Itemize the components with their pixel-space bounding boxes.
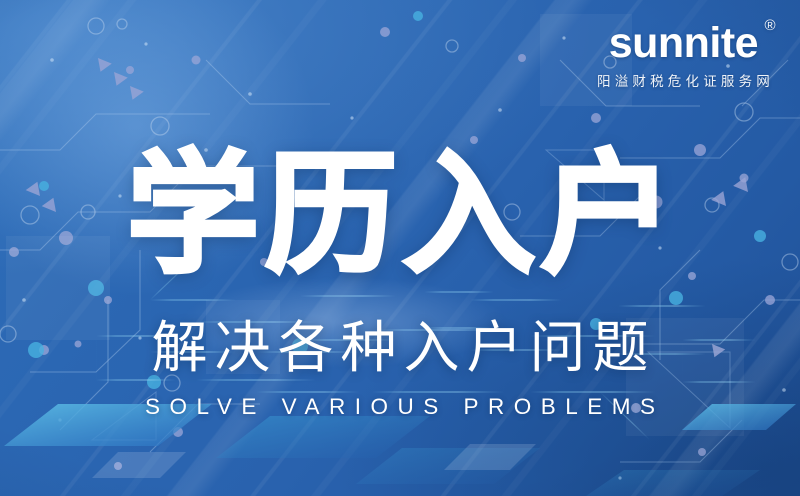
banner-subtitle-english: SOLVE VARIOUS PROBLEMS — [0, 393, 800, 421]
banner-subtitle-chinese: 解决各种入户问题 — [0, 316, 800, 382]
promotional-banner: sunnite ® 阳溢财税危化证服务网 学历入户 解决各种入户问题 SOLVE… — [0, 0, 800, 496]
logo-tagline: 阳溢财税危化证服务网 — [593, 70, 774, 90]
logo-wordmark: sunnite ® — [609, 20, 758, 66]
registered-trademark-icon: ® — [765, 18, 776, 33]
logo-wordmark-text: sunnite — [609, 19, 758, 67]
banner-headline: 学历入户 — [0, 140, 800, 290]
brand-logo[interactable]: sunnite ® 阳溢财税危化证服务网 — [593, 20, 774, 90]
